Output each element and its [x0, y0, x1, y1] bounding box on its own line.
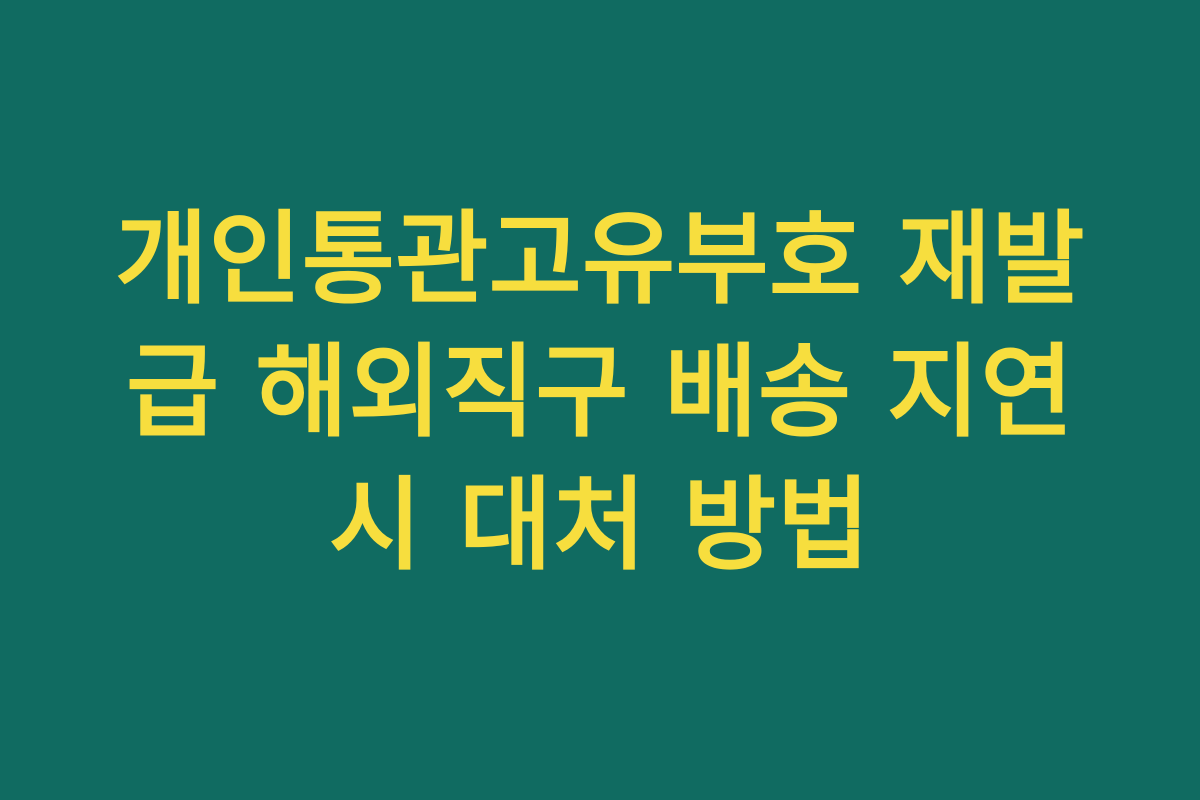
title-line-1: 개인통관고유부호 재발	[40, 193, 1160, 326]
title-text-block: 개인통관고유부호 재발 급 해외직구 배송 지연 시 대처 방법	[40, 193, 1160, 592]
title-line-2: 급 해외직구 배송 지연	[40, 326, 1160, 459]
title-line-3: 시 대처 방법	[40, 459, 1160, 592]
thumbnail-canvas: 개인통관고유부호 재발 급 해외직구 배송 지연 시 대처 방법	[0, 0, 1200, 800]
